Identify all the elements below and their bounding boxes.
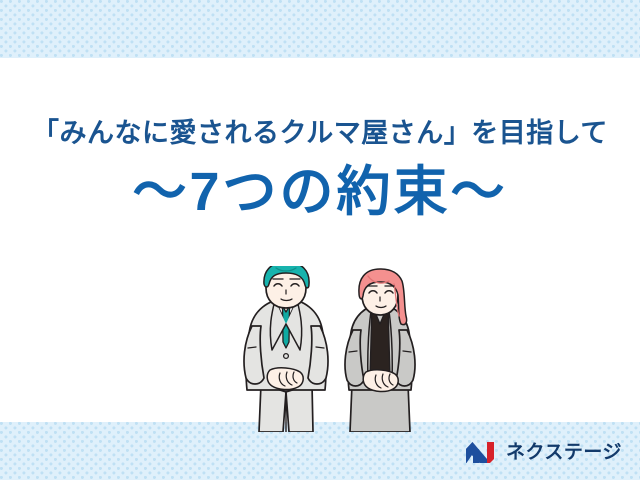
male-staff-figure bbox=[244, 266, 328, 432]
staff-illustration bbox=[228, 266, 428, 432]
nextage-logo-text: ネクステージ bbox=[506, 443, 622, 462]
female-staff-figure bbox=[345, 269, 415, 432]
staff-illustration-svg bbox=[228, 266, 428, 432]
headline-line-1: 「みんなに愛されるクルマ屋さん」を目指して bbox=[0, 118, 640, 149]
top-dot-band bbox=[0, 0, 640, 58]
promise-banner: 「みんなに愛されるクルマ屋さん」を目指して 〜7つの約束〜 bbox=[0, 0, 640, 480]
headline-line-2: 〜7つの約束〜 bbox=[0, 163, 640, 222]
nextage-n-mark-icon bbox=[465, 441, 499, 464]
headline-block: 「みんなに愛されるクルマ屋さん」を目指して 〜7つの約束〜 bbox=[0, 118, 640, 222]
nextage-logo: ネクステージ bbox=[465, 441, 622, 464]
